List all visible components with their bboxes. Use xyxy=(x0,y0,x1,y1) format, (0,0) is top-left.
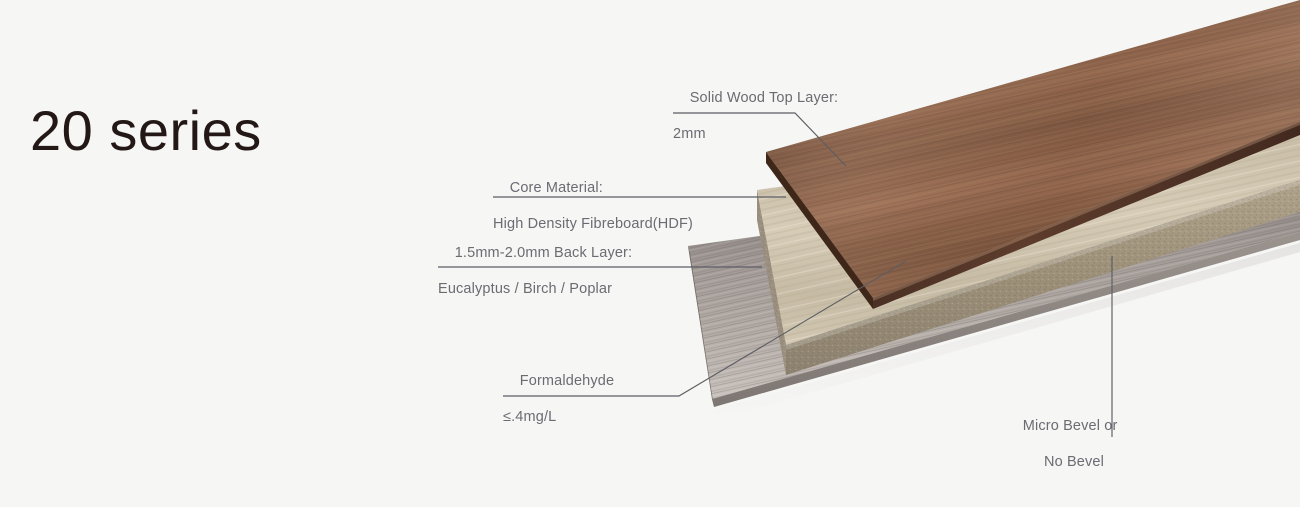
callout-top-layer: Solid Wood Top Layer: 2mm xyxy=(673,71,838,179)
illustration-stage: 20 series Solid Wood Top Layer: 2mm Core… xyxy=(0,0,1300,444)
callout-back-layer: 1.5mm-2.0mm Back Layer: Eucalyptus / Bir… xyxy=(438,226,632,334)
callout-back-layer-line1: 1.5mm-2.0mm Back Layer: xyxy=(455,245,633,261)
callout-back-layer-line2: Eucalyptus / Birch / Poplar xyxy=(438,280,632,298)
callout-bevel-line2: No Bevel xyxy=(1006,453,1104,471)
callout-formaldehyde-line2: ≤.4mg/L xyxy=(503,408,614,426)
callout-formaldehyde-line1: Formaldehyde xyxy=(520,373,615,389)
callout-bevel: Micro Bevel or No Bevel xyxy=(1006,399,1104,507)
callout-top-layer-line2: 2mm xyxy=(673,125,838,143)
callout-formaldehyde: Formaldehyde ≤.4mg/L xyxy=(503,354,614,462)
page-title: 20 series xyxy=(30,99,262,163)
callout-bevel-line1: Micro Bevel or xyxy=(1023,418,1118,434)
callout-top-layer-line1: Solid Wood Top Layer: xyxy=(690,90,839,106)
callout-core-material-line1: Core Material: xyxy=(510,180,603,196)
